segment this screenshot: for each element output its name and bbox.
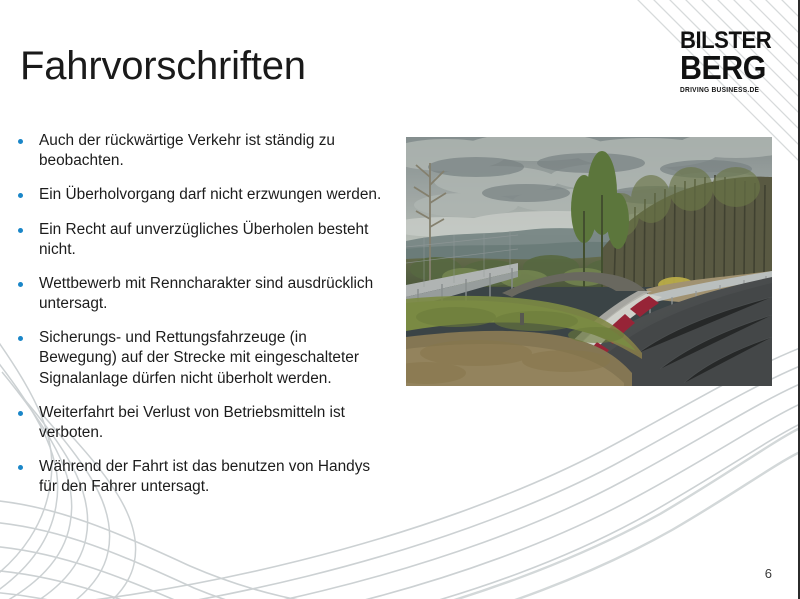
- page-number: 6: [765, 566, 772, 581]
- list-item: Ein Überholvorgang darf nicht erzwungen …: [18, 185, 388, 205]
- list-item: Weiterfahrt bei Verlust von Betriebsmitt…: [18, 403, 388, 443]
- bullet-text: Wettbewerb mit Renncharakter sind ausdrü…: [39, 274, 388, 314]
- bullet-text: Ein Überholvorgang darf nicht erzwungen …: [39, 185, 381, 205]
- bullet-list: Auch der rückwärtige Verkehr ist ständig…: [18, 131, 388, 511]
- bullet-dot-icon: [18, 336, 23, 341]
- logo-tagline: DRIVING BUSINESS.DE: [680, 87, 770, 94]
- bullet-dot-icon: [18, 139, 23, 144]
- presentation-slide: Fahrvorschriften BILSTER BERG DRIVING BU…: [0, 0, 800, 599]
- list-item: Wettbewerb mit Renncharakter sind ausdrü…: [18, 274, 388, 314]
- bullet-dot-icon: [18, 282, 23, 287]
- list-item: Sicherungs- und Rettungsfahrzeuge (in Be…: [18, 328, 388, 389]
- bullet-text: Sicherungs- und Rettungsfahrzeuge (in Be…: [39, 328, 388, 389]
- bullet-text: Auch der rückwärtige Verkehr ist ständig…: [39, 131, 388, 171]
- logo-line-berg: BERG: [680, 53, 768, 83]
- decor-bottom-left-waves: [0, 500, 394, 599]
- bullet-dot-icon: [18, 465, 23, 470]
- bullet-text: Weiterfahrt bei Verlust von Betriebsmitt…: [39, 403, 388, 443]
- bullet-text: Ein Recht auf unverzügliches Überholen b…: [39, 220, 388, 260]
- bilster-berg-logo: BILSTER BERG DRIVING BUSINESS.DE: [680, 30, 776, 94]
- list-item: Ein Recht auf unverzügliches Überholen b…: [18, 220, 388, 260]
- bullet-dot-icon: [18, 411, 23, 416]
- race-track-photo-svg: [406, 137, 772, 386]
- page-title: Fahrvorschriften: [20, 44, 306, 88]
- list-item: Auch der rückwärtige Verkehr ist ständig…: [18, 131, 388, 171]
- list-item: Während der Fahrt ist das benutzen von H…: [18, 457, 388, 497]
- bullet-dot-icon: [18, 193, 23, 198]
- race-track-photo: [406, 137, 772, 386]
- bullet-text: Während der Fahrt ist das benutzen von H…: [39, 457, 388, 497]
- bullet-dot-icon: [18, 228, 23, 233]
